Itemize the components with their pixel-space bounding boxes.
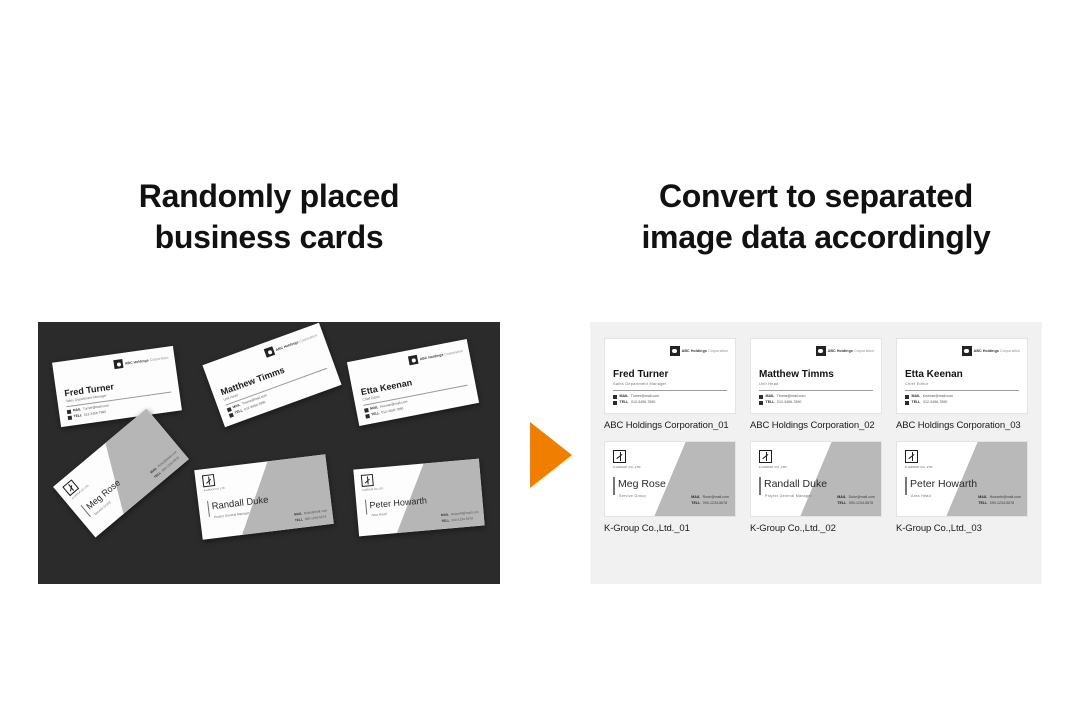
abc-logo-mark [408, 355, 419, 366]
card-divider [613, 390, 727, 391]
card-name: Matthew Timms [759, 369, 834, 380]
abc-logo: ABC Holdings Corporation [113, 353, 169, 370]
result-item-fred-turner[interactable]: ABC Holdings Corporation Fred Turner Sal… [604, 338, 736, 431]
card-contact: MAIL Howarth@mail.com TELL 090-1234-5678 [978, 496, 1021, 508]
name-accent-bar [905, 477, 907, 495]
card-name: Etta Keenan [905, 369, 963, 380]
bullet-icon [905, 395, 909, 399]
scattered-cards-panel: ABC Holdings Corporation Fred Turner Sal… [38, 322, 500, 584]
bullet-icon [613, 395, 617, 399]
card-name: Etta Keenan [360, 377, 413, 397]
abc-logo-text: ABC Holdings Corporation [974, 349, 1020, 353]
bullet-icon [905, 401, 909, 405]
card-name: Peter Howarth [910, 478, 977, 490]
result-item-randall-duke[interactable]: K-GROUP CO.,LTD. Randall Duke Project Ge… [750, 441, 882, 534]
card-contact: MAIL Keenan@mail.com TELL 012-3456-7890 [905, 395, 953, 407]
bullet-icon [759, 395, 763, 399]
abc-logo-mark [264, 346, 276, 358]
card-title: Chief Editor [905, 382, 928, 386]
card-title: Unit Head [759, 382, 779, 386]
abc-logo: ABC Holdings Corporation [962, 346, 1020, 356]
right-heading-line-1: Convert to separated [590, 176, 1042, 217]
kgroup-logo-caption: K-GROUP CO.,LTD. [362, 487, 384, 492]
card-tell-line: TELL 090-1234-5678 [691, 502, 729, 506]
bullet-icon [759, 401, 763, 405]
kgroup-logo-caption: K-GROUP CO.,LTD. [759, 465, 788, 469]
card-contact: MAIL Rose@mail.com TELL 090-1234-5678 [691, 496, 729, 508]
card-tell-line: TELL 090-1234-5678 [837, 502, 875, 506]
card-tell-line: TELL 090-1234-5678 [978, 502, 1021, 506]
scattered-card-meg-rose: K-GROUP CO.,LTD. Meg Rose Service Group … [53, 409, 189, 538]
name-accent-bar [365, 500, 368, 515]
abc-logo-mark [816, 346, 826, 356]
card-name: Fred Turner [613, 369, 668, 380]
result-caption: K-Group Co.,Ltd._02 [750, 523, 882, 534]
card-title: Area Head [911, 494, 931, 498]
kgroup-logo-mark [613, 450, 626, 463]
card-thumbnail[interactable]: K-GROUP CO.,LTD. Peter Howarth Area Head… [896, 441, 1028, 517]
result-item-matthew-timms[interactable]: ABC Holdings Corporation Matthew Timms U… [750, 338, 882, 431]
card-contact: MAIL Duke@mail.com TELL 090-1234-5678 [837, 496, 875, 508]
bullet-icon [229, 413, 234, 418]
bullet-icon [364, 408, 369, 413]
card-contact: MAIL Timms@mail.com TELL 012-3456-7890 [759, 395, 805, 407]
card-thumbnail[interactable]: ABC Holdings Corporation Matthew Timms U… [750, 338, 882, 414]
bullet-icon [365, 414, 370, 419]
result-item-meg-rose[interactable]: K-GROUP CO.,LTD. Meg Rose Service Group … [604, 441, 736, 534]
card-contact: MAIL Turner@mail.com TELL 012-3456-7890 [613, 395, 659, 407]
card-mail-line: MAIL Duke@mail.com [837, 496, 875, 500]
card-name: Meg Rose [618, 478, 666, 490]
result-item-etta-keenan[interactable]: ABC Holdings Corporation Etta Keenan Chi… [896, 338, 1028, 431]
card-thumbnail[interactable]: K-GROUP CO.,LTD. Randall Duke Project Ge… [750, 441, 882, 517]
card-mail-line: MAIL Turner@mail.com [613, 395, 659, 399]
scattered-card-matthew-timms: ABC Holdings Corporation Matthew Timms U… [202, 323, 341, 427]
abc-logo: ABC Holdings Corporation [670, 346, 728, 356]
result-item-peter-howarth[interactable]: K-GROUP CO.,LTD. Peter Howarth Area Head… [896, 441, 1028, 534]
result-caption: ABC Holdings Corporation_03 [896, 420, 1028, 431]
result-caption: ABC Holdings Corporation_01 [604, 420, 736, 431]
left-heading-line-2: business cards [38, 217, 500, 258]
result-caption: K-Group Co.,Ltd._03 [896, 523, 1028, 534]
card-mail-line: MAIL Rose@mail.com [691, 496, 729, 500]
card-title: Service Group [619, 494, 646, 498]
card-title: Area Head [371, 512, 387, 517]
kgroup-logo-mark [759, 450, 772, 463]
result-caption: K-Group Co.,Ltd._01 [604, 523, 736, 534]
card-tell-line: TELL 012-3456-7890 [613, 401, 659, 405]
card-name: Matthew Timms [219, 365, 286, 397]
kgroup-logo-caption: K-GROUP CO.,LTD. [905, 465, 934, 469]
kgroup-logo-caption: K-GROUP CO.,LTD. [613, 465, 642, 469]
abc-logo-mark [113, 359, 123, 369]
card-divider [759, 390, 873, 391]
abc-logo-text: ABC Holdings Corporation [682, 349, 728, 353]
card-title: Sales Department Manager [613, 382, 667, 386]
card-title: Project General Manager [214, 511, 250, 519]
scattered-card-randall-duke: K-GROUP CO.,LTD. Randall Duke Project Ge… [194, 454, 334, 540]
abc-logo-mark [670, 346, 680, 356]
slide-canvas: Randomly placed business cards Convert t… [0, 0, 1080, 720]
card-divider [905, 390, 1019, 391]
card-mail-line: MAIL Keenan@mail.com [905, 395, 953, 399]
card-thumbnail[interactable]: ABC Holdings Corporation Fred Turner Sal… [604, 338, 736, 414]
card-name: Randall Duke [764, 478, 827, 490]
name-accent-bar [207, 501, 210, 517]
bullet-icon [613, 401, 617, 405]
abc-logo: ABC Holdings Corporation [408, 346, 464, 365]
abc-logo-text: ABC Holdings Corporation [125, 355, 169, 365]
kgroup-logo-mark [905, 450, 918, 463]
scattered-card-etta-keenan: ABC Holdings Corporation Etta Keenan Chi… [347, 339, 479, 426]
left-heading-line-1: Randomly placed [38, 176, 500, 217]
bullet-icon [227, 407, 232, 412]
bullet-icon [68, 416, 73, 421]
abc-logo: ABC Holdings Corporation [816, 346, 874, 356]
card-tell-line: TELL 012-3456-7890 [759, 401, 805, 405]
card-thumbnail[interactable]: K-GROUP CO.,LTD. Meg Rose Service Group … [604, 441, 736, 517]
right-heading: Convert to separated image data accordin… [590, 176, 1042, 258]
abc-logo-text: ABC Holdings Corporation [419, 348, 463, 360]
kgroup-logo-caption: K-GROUP CO.,LTD. [204, 487, 226, 493]
result-caption: ABC Holdings Corporation_02 [750, 420, 882, 431]
card-title: Project General Manager [765, 494, 812, 498]
right-heading-line-2: image data accordingly [590, 217, 1042, 258]
name-accent-bar [759, 477, 761, 495]
abc-logo-text: ABC Holdings Corporation [828, 349, 874, 353]
abc-logo-mark [962, 346, 972, 356]
card-contact: MAIL Turner@mail.com TELL 012-3456-7890 [67, 404, 110, 420]
kgroup-logo-mark [202, 474, 215, 487]
abc-logo-text: ABC Holdings Corporation [275, 333, 318, 352]
abc-logo: ABC Holdings Corporation [264, 330, 319, 357]
card-thumbnail[interactable]: ABC Holdings Corporation Etta Keenan Chi… [896, 338, 1028, 414]
card-tell-line: TELL 012-3456-7890 [905, 401, 953, 405]
left-heading: Randomly placed business cards [38, 176, 500, 258]
scattered-card-fred-turner: ABC Holdings Corporation Fred Turner Sal… [52, 346, 182, 427]
card-mail-line: MAIL Timms@mail.com [759, 395, 805, 399]
name-accent-bar [613, 477, 615, 495]
separated-results-panel: ABC Holdings Corporation Fred Turner Sal… [590, 322, 1042, 584]
card-mail-line: MAIL Howarth@mail.com [978, 496, 1021, 500]
convert-arrow-icon [530, 422, 572, 488]
bullet-icon [67, 410, 72, 415]
card-wedge [53, 409, 189, 538]
results-grid: ABC Holdings Corporation Fred Turner Sal… [604, 338, 1028, 534]
scattered-card-peter-howarth: K-GROUP CO.,LTD. Peter Howarth Area Head… [353, 459, 484, 537]
kgroup-logo-mark [361, 474, 374, 487]
